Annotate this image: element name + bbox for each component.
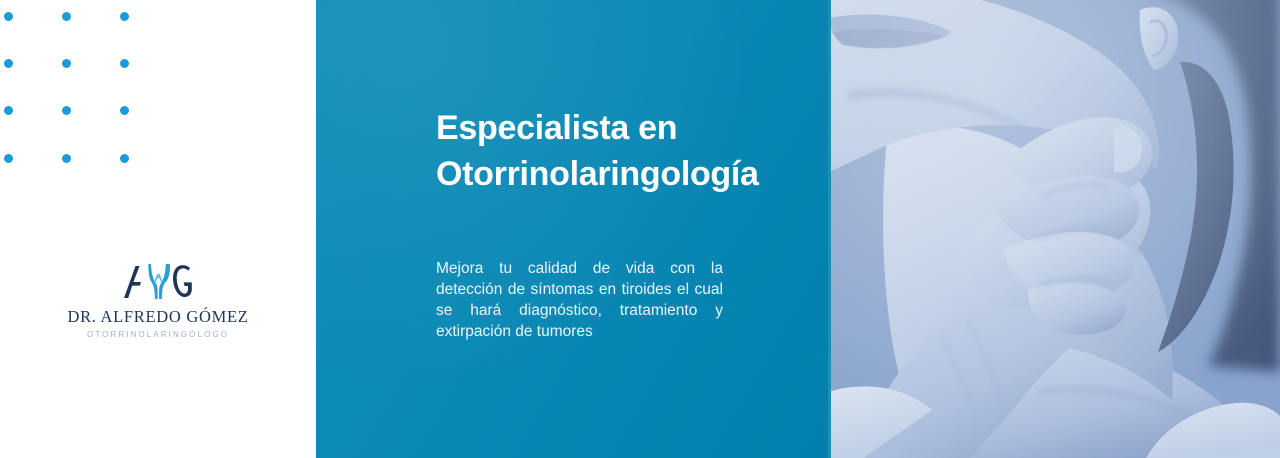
headline-panel: Especialista enOtorrinolaringología Mejo… <box>316 0 828 458</box>
banner-headline: Especialista enOtorrinolaringología <box>436 105 766 197</box>
clinic-logo[interactable]: DR. ALFREDO GÓMEZ OTORRINOLARINGÓLOGO <box>0 258 316 339</box>
grid-dot <box>120 12 129 21</box>
logo-doctor-name: DR. ALFREDO GÓMEZ <box>67 307 248 327</box>
grid-dot <box>120 106 129 115</box>
grid-dot <box>62 106 71 115</box>
headline-line-1: Especialista en <box>436 109 677 147</box>
banner-subcopy: Mejora tu calidad de vida con la detecci… <box>436 258 723 342</box>
grid-dot <box>62 12 71 21</box>
grid-dot <box>4 106 13 115</box>
headline-line-2: Otorrinolaringología <box>436 155 759 193</box>
hero-photo-panel <box>828 0 1280 458</box>
decorative-dot-grid <box>0 0 140 175</box>
panel-edge-accent <box>828 0 831 458</box>
logo-specialty: OTORRINOLARINGÓLOGO <box>87 330 229 339</box>
grid-dot <box>4 59 13 68</box>
grid-dot <box>62 154 71 163</box>
neck-throat-photo <box>828 0 1280 458</box>
logo-monogram-icon <box>120 258 196 304</box>
grid-dot <box>120 154 129 163</box>
grid-dot <box>62 59 71 68</box>
grid-dot <box>120 59 129 68</box>
grid-dot <box>4 154 13 163</box>
left-brand-panel: DR. ALFREDO GÓMEZ OTORRINOLARINGÓLOGO <box>0 0 316 458</box>
grid-dot <box>4 12 13 21</box>
clinic-promo-banner: DR. ALFREDO GÓMEZ OTORRINOLARINGÓLOGO Es… <box>0 0 1280 458</box>
